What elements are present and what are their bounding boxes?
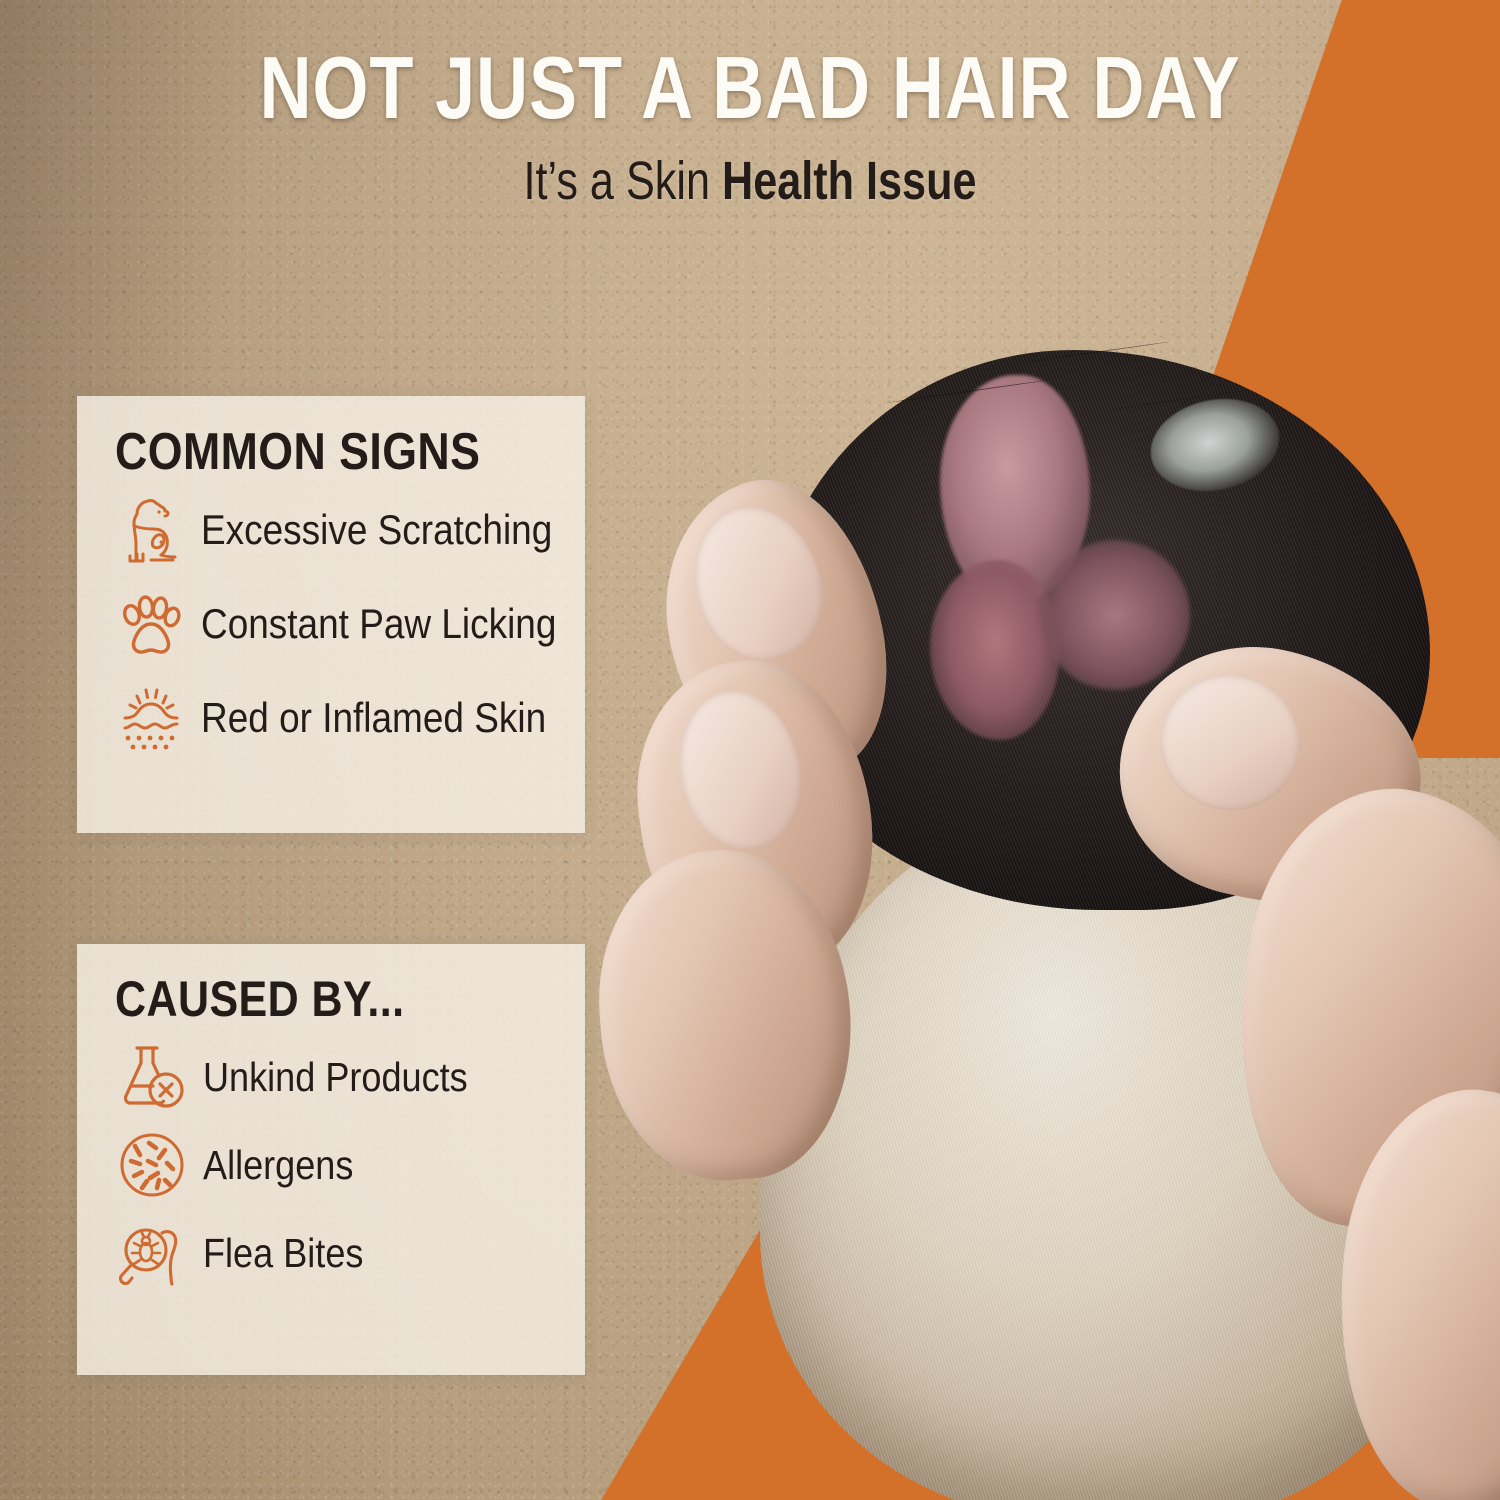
list-item-label: Unkind Products xyxy=(203,1057,468,1098)
list-item-label: Excessive Scratching xyxy=(201,509,552,551)
caused-by-list: Unkind Products Allergens xyxy=(115,1040,559,1290)
caused-by-card: CAUSED BY... Unkind Products xyxy=(77,944,585,1375)
list-item: Unkind Products xyxy=(115,1040,559,1114)
header: NOT JUST A BAD HAIR DAY It’s a Skin Heal… xyxy=(0,44,1500,208)
inflamed-skin-icon xyxy=(115,680,187,756)
dog-scratching-icon xyxy=(115,492,187,568)
list-item: Allergens xyxy=(115,1128,559,1202)
paw-print-icon xyxy=(115,586,187,662)
page-title: NOT JUST A BAD HAIR DAY xyxy=(135,44,1365,132)
common-signs-title: COMMON SIGNS xyxy=(115,426,497,478)
list-item: Excessive Scratching xyxy=(115,492,559,568)
list-item-label: Flea Bites xyxy=(203,1233,363,1274)
allergens-germs-icon xyxy=(115,1128,189,1202)
list-item-label: Constant Paw Licking xyxy=(201,603,556,645)
list-item: Flea Bites xyxy=(115,1216,559,1290)
common-signs-card: COMMON SIGNS xyxy=(77,396,585,833)
subtitle-light-part: It’s a Skin xyxy=(524,151,723,211)
flea-magnifier-icon xyxy=(115,1216,189,1290)
caused-by-title: CAUSED BY... xyxy=(115,974,497,1024)
list-item-label: Allergens xyxy=(203,1145,353,1186)
page-subtitle: It’s a Skin Health Issue xyxy=(150,154,1350,208)
subtitle-bold-part: Health Issue xyxy=(722,151,977,211)
list-item-label: Red or Inflamed Skin xyxy=(201,697,546,739)
list-item: Constant Paw Licking xyxy=(115,586,559,662)
flask-no-icon xyxy=(115,1040,189,1114)
common-signs-list: Excessive Scratching Constant Paw Lickin… xyxy=(115,492,559,756)
list-item: Red or Inflamed Skin xyxy=(115,680,559,756)
